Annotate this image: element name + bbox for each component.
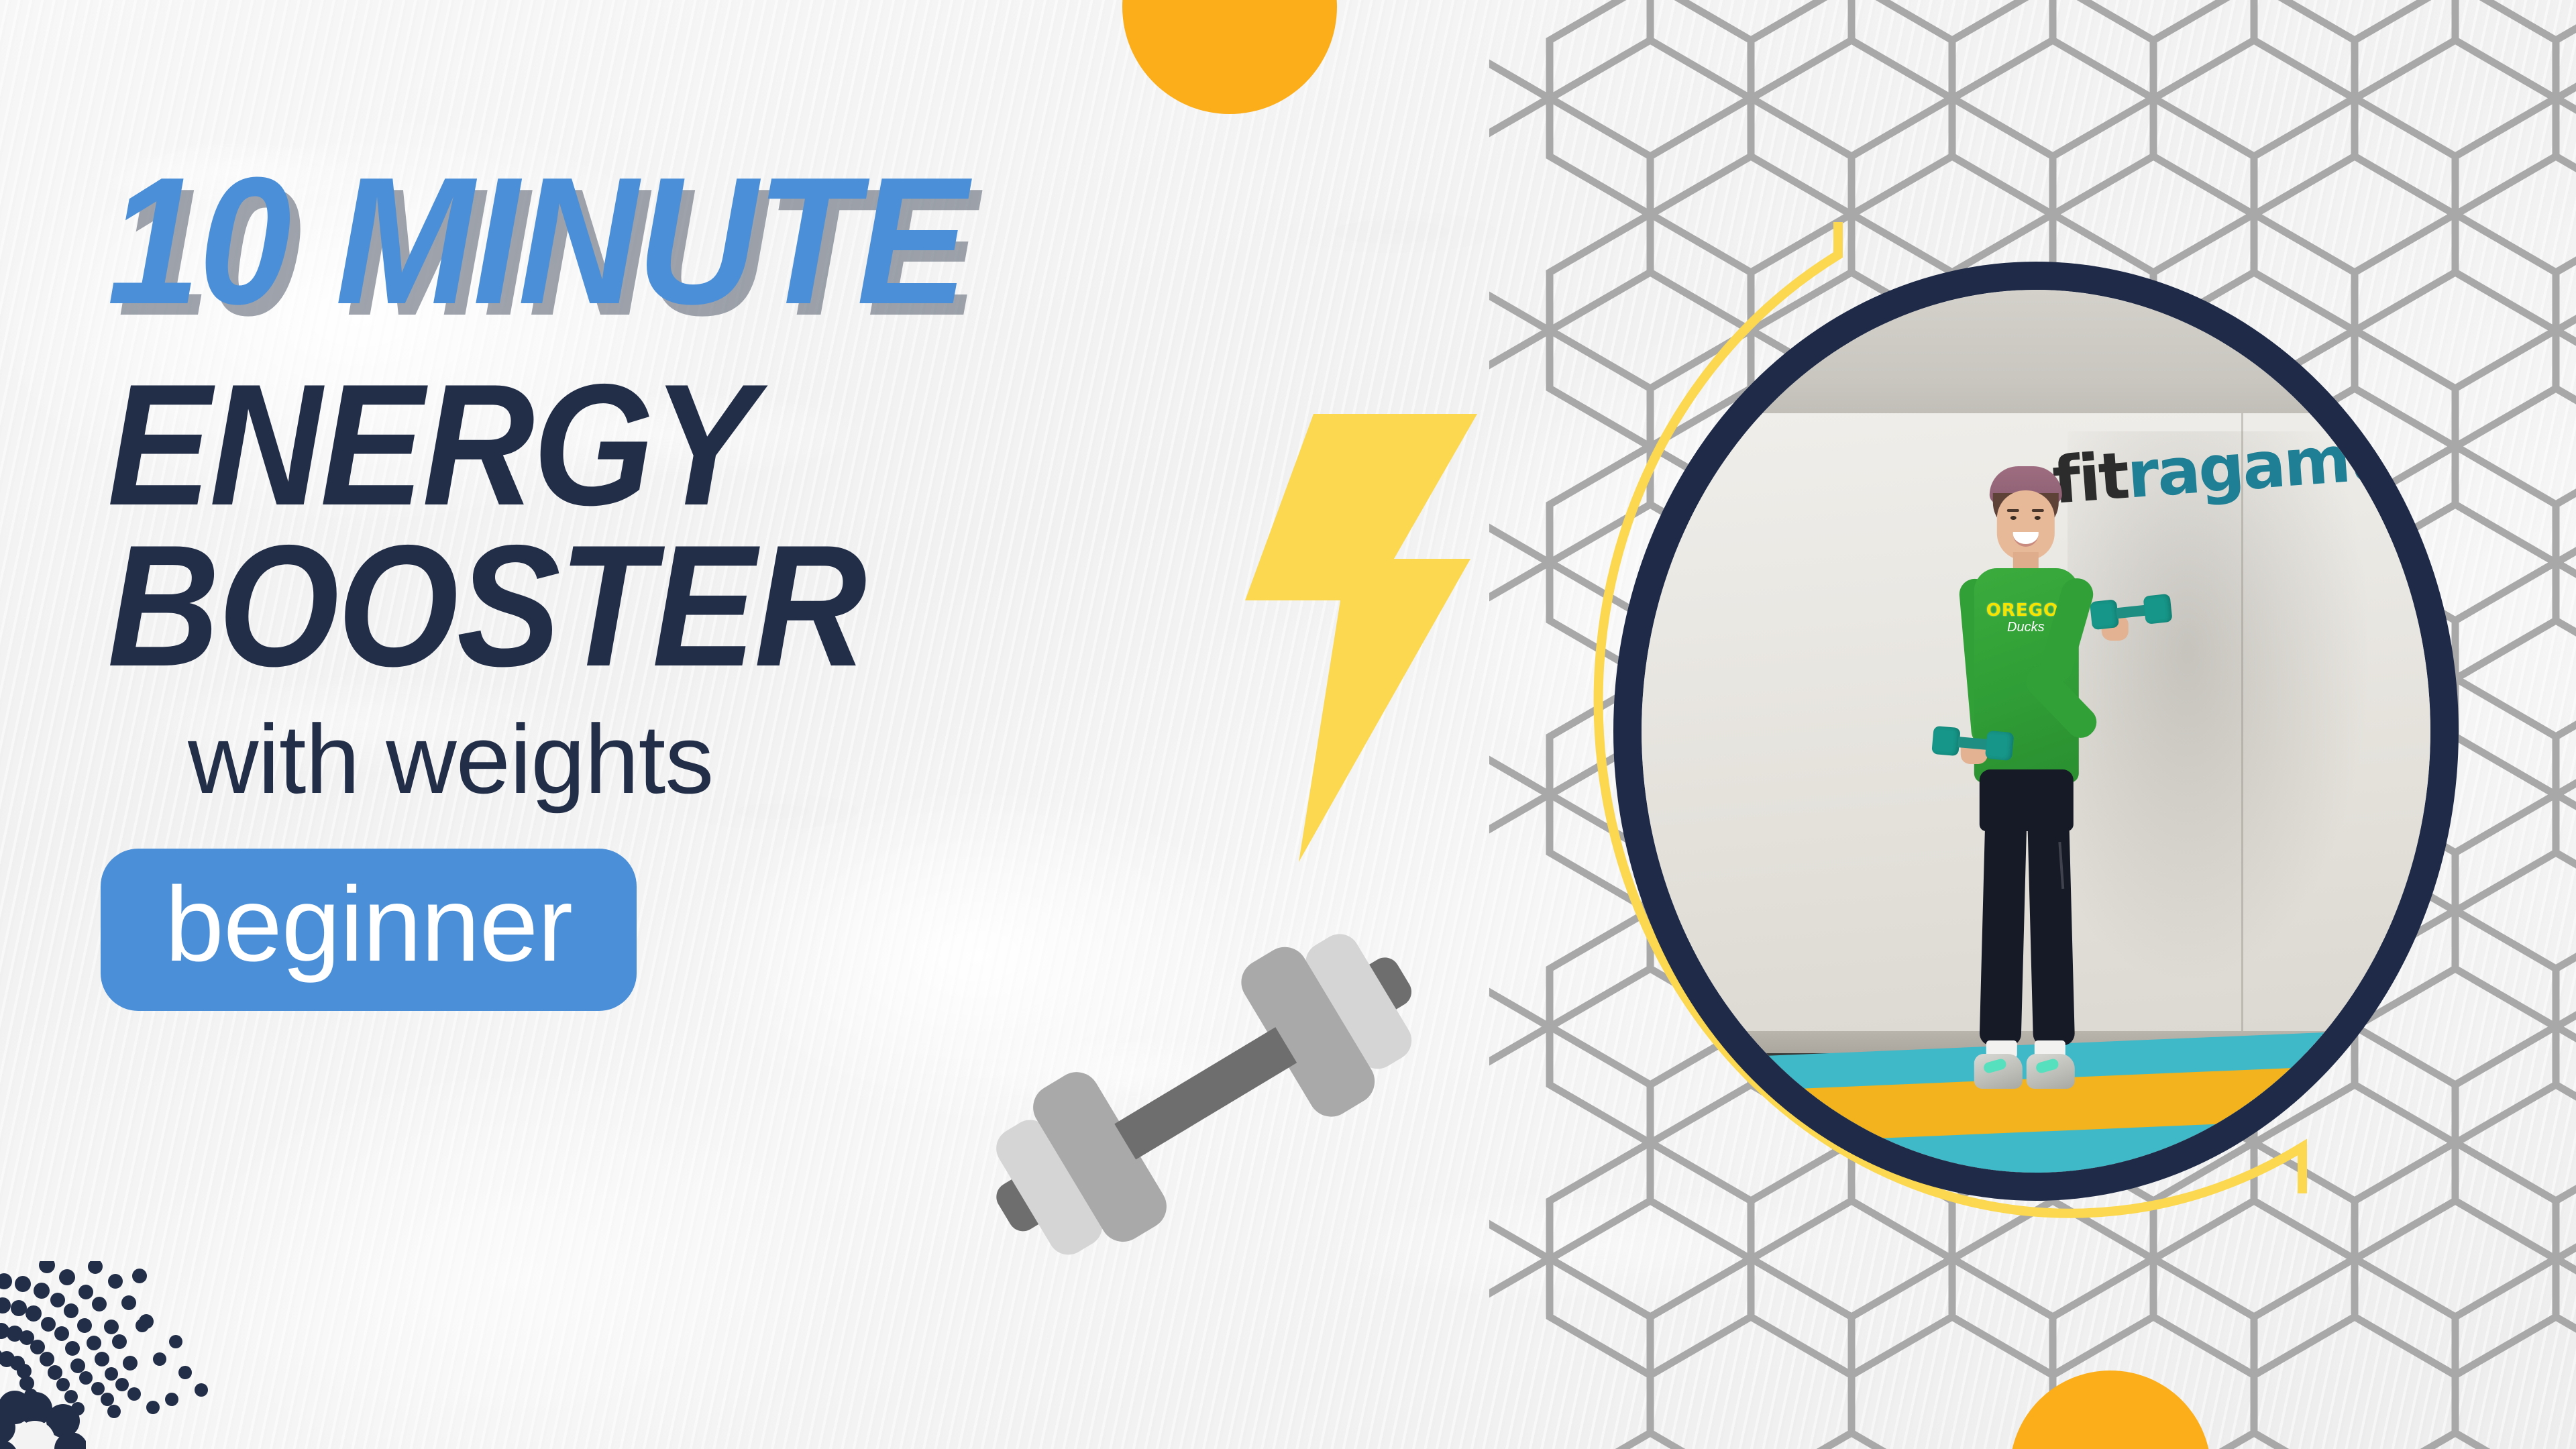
leg-right <box>2027 824 2075 1046</box>
instructor-photo: fitragamuffin OREGO <box>1642 290 2430 1173</box>
duration-kicker: 10 MINUTE <box>107 151 1193 332</box>
eyebrow-left <box>2007 509 2019 512</box>
wall-corner-edge <box>2241 413 2243 1031</box>
difficulty-badge-label: beginner <box>165 871 572 977</box>
shoelace <box>1982 1058 2007 1075</box>
hips-leggings <box>1980 769 2074 831</box>
main-title-line-1: ENERGY <box>107 364 1170 525</box>
sneaker-left <box>1974 1054 2023 1089</box>
dumbbell-head <box>1985 731 2015 761</box>
dumbbell-held-upper <box>2090 594 2173 630</box>
dumbbell-bar <box>1957 737 1988 750</box>
thumbnail-canvas: fitragamuffin OREGO <box>0 0 2576 1449</box>
eye-right <box>2035 516 2041 520</box>
dumbbell-head <box>2143 594 2172 625</box>
instructor-figure: OREGON Ducks <box>1880 466 2169 1137</box>
dumbbell-held-lower <box>1931 726 2014 761</box>
instructor-photo-circle: fitragamuffin OREGO <box>1613 262 2459 1201</box>
flower-shape-decoration <box>0 1390 86 1449</box>
eye-left <box>2010 516 2017 520</box>
main-title-line-2: BOOSTER <box>107 525 1170 686</box>
dumbbell-head <box>1931 726 1961 756</box>
subtitle: with weights <box>188 710 1288 808</box>
headline-group: 10 MINUTE ENERGY BOOSTER with weights be… <box>107 151 1288 1011</box>
eyebrow-right <box>2032 509 2044 512</box>
sneaker-right <box>2027 1054 2075 1089</box>
shoelace <box>2035 1058 2059 1075</box>
face <box>1997 490 2055 560</box>
leg-left <box>1979 824 2027 1046</box>
smile <box>2013 532 2039 547</box>
main-title: ENERGY BOOSTER <box>107 364 1170 686</box>
difficulty-badge: beginner <box>101 849 637 1011</box>
gym-ceiling <box>1642 290 2430 422</box>
dumbbell-bar <box>2116 605 2146 619</box>
dumbbell-head <box>2090 599 2119 630</box>
